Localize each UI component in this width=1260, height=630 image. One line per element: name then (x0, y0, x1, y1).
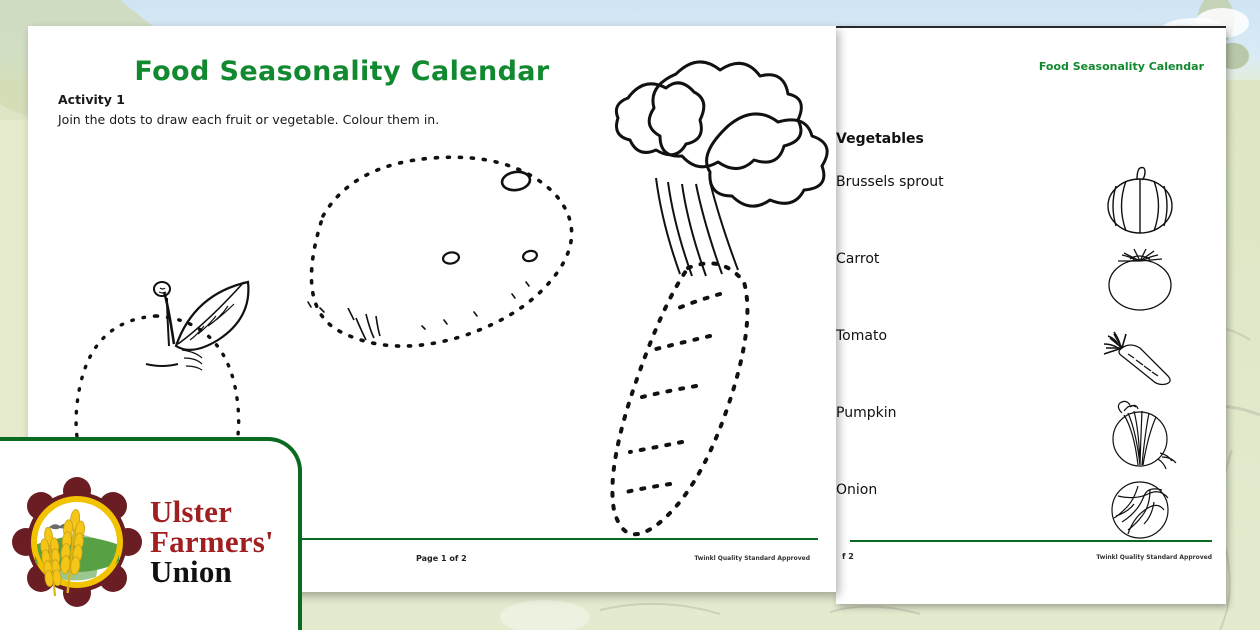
logo-panel: Ulster Farmers' Union (0, 437, 302, 630)
onion-icon (1092, 395, 1188, 471)
back-page-title: Food Seasonality Calendar (1039, 60, 1204, 73)
veg-row: Pumpkin (836, 399, 1226, 475)
logo-line-1: Ulster (150, 497, 274, 527)
tomato-icon (1092, 241, 1188, 317)
back-page: Food Seasonality Calendar Vegetables Bru… (836, 26, 1226, 604)
logo-line-2: Farmers' (150, 527, 274, 557)
front-page-number: Page 1 of 2 (416, 554, 467, 563)
front-page-approval: Twinkl Quality Standard Approved (694, 555, 810, 562)
logo-line-3: Union (150, 557, 274, 587)
pumpkin-icon (1092, 164, 1188, 240)
activity-label: Activity 1 (58, 92, 125, 107)
vegetables-heading: Vegetables (836, 131, 924, 147)
carrot-drawing (568, 36, 848, 556)
veg-row: Brussels sprout (836, 168, 1226, 244)
carrot-icon (1092, 318, 1188, 394)
back-page-rule (850, 540, 1212, 542)
logo-wrap: Ulster Farmers' Union (18, 483, 274, 601)
ulster-farmers-union-badge-icon (18, 483, 136, 601)
veg-row: Carrot (836, 245, 1226, 321)
veg-row: Tomato (836, 322, 1226, 398)
veg-label: Brussels sprout (836, 174, 944, 190)
potato-drawing (268, 136, 608, 396)
back-page-approval: Twinkl Quality Standard Approved (1096, 554, 1212, 561)
activity-instruction: Join the dots to draw each fruit or vege… (58, 112, 439, 127)
organisation-name: Ulster Farmers' Union (150, 497, 274, 586)
brussels-sprout-icon (1092, 472, 1188, 548)
